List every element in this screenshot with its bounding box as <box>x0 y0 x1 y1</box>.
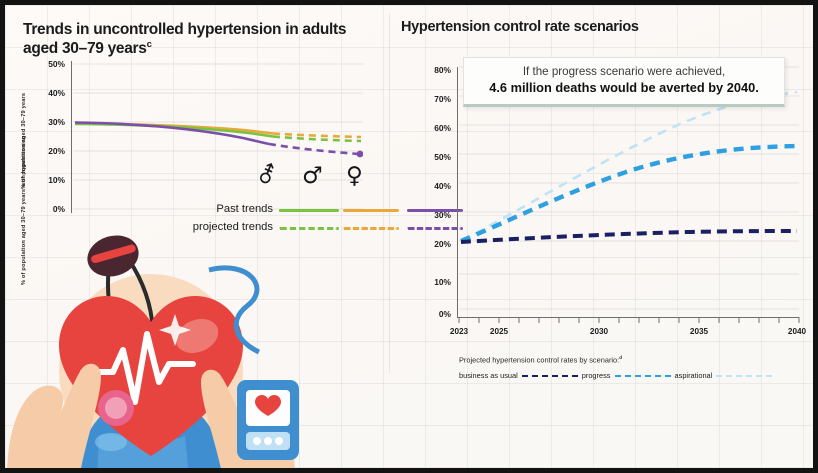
callout-line-1: If the progress scenario were achieved, <box>474 65 774 79</box>
legend-swatch-past-male <box>343 209 399 212</box>
left-series-women-dashed <box>269 144 359 154</box>
left-series-women-endpoint-marker <box>357 151 363 158</box>
right-ytick-80: 80% <box>401 65 451 75</box>
right-chart-footnote: Projected hypertension control rates by … <box>459 355 622 364</box>
right-panel-title: Hypertension control rate scenarios <box>401 19 731 36</box>
legend-dash-business-as-usual <box>522 375 578 377</box>
right-footnote-marker: d <box>619 355 622 360</box>
legend-past-trends-label: Past trends <box>157 203 273 215</box>
right-chart-legend: business as usual progress aspirational <box>459 371 772 380</box>
legend-label-aspirational: aspirational <box>675 371 713 380</box>
left-title-text: Trends in uncontrolled hypertension in a… <box>23 21 346 57</box>
left-y-axis-line <box>71 61 72 213</box>
legend-label-progress: progress <box>582 371 611 380</box>
both-sexes-icon: ⚦ <box>257 165 276 188</box>
right-series-business-as-usual <box>461 231 797 242</box>
legend-label-business-as-usual: business as usual <box>459 371 518 380</box>
right-ytick-10: 10% <box>401 277 451 287</box>
right-xtick-2023: 2023 <box>439 327 479 336</box>
female-icon: ♀ <box>346 165 363 188</box>
right-ytick-60: 60% <box>401 123 451 133</box>
right-xtick-2040: 2040 <box>777 327 817 336</box>
right-footnote-text: Projected hypertension control rates by … <box>459 355 619 364</box>
callout-box: If the progress scenario were achieved, … <box>463 57 785 107</box>
monitor-button-2 <box>264 437 272 445</box>
left-ytick-50: 50% <box>19 59 65 69</box>
callout-line-2: 4.6 million deaths would be averted by 2… <box>474 80 774 96</box>
panel-divider <box>389 13 390 373</box>
hands-holding-heart-illustration <box>1 230 301 473</box>
legend-dash-progress <box>615 375 671 377</box>
left-ytick-40: 40% <box>19 88 65 98</box>
monitor-button-3 <box>275 437 283 445</box>
left-title-footnote-marker: c <box>147 39 152 50</box>
globe-highlight <box>95 433 127 451</box>
right-xtick-2035: 2035 <box>679 327 719 336</box>
right-ytick-40: 40% <box>401 181 451 191</box>
legend-swatch-past-both-3 <box>279 209 335 212</box>
right-xtick-2025: 2025 <box>479 327 519 336</box>
male-icon: ♂ <box>302 165 323 188</box>
legend-dash-aspirational <box>716 375 772 377</box>
monitor-button-1 <box>253 437 261 445</box>
legend-swatch-projected-male <box>343 227 399 230</box>
right-ytick-50: 50% <box>401 152 451 162</box>
right-chart: 80% 70% 60% 50% 40% 30% 20% 10% 0% 2023 … <box>401 51 818 351</box>
left-chart: 50% 40% 30% 20% 10% 0% <box>19 57 369 227</box>
infographic-frame: Trends in uncontrolled hypertension in a… <box>0 0 818 473</box>
stethoscope-chestpiece-inner <box>105 397 127 419</box>
left-panel-title: Trends in uncontrolled hypertension in a… <box>23 21 353 59</box>
right-ytick-20: 20% <box>401 239 451 249</box>
left-plot-area <box>73 63 363 215</box>
right-ytick-30: 30% <box>401 210 451 220</box>
right-ytick-70: 70% <box>401 94 451 104</box>
right-y-axis-line <box>457 67 458 317</box>
right-y-axis-label: % of population aged 30–79 years with hy… <box>21 115 35 305</box>
right-x-axis-ticks <box>458 317 800 324</box>
right-xtick-2030: 2030 <box>579 327 619 336</box>
right-series-progress <box>461 146 797 241</box>
right-ytick-0: 0% <box>401 309 451 319</box>
